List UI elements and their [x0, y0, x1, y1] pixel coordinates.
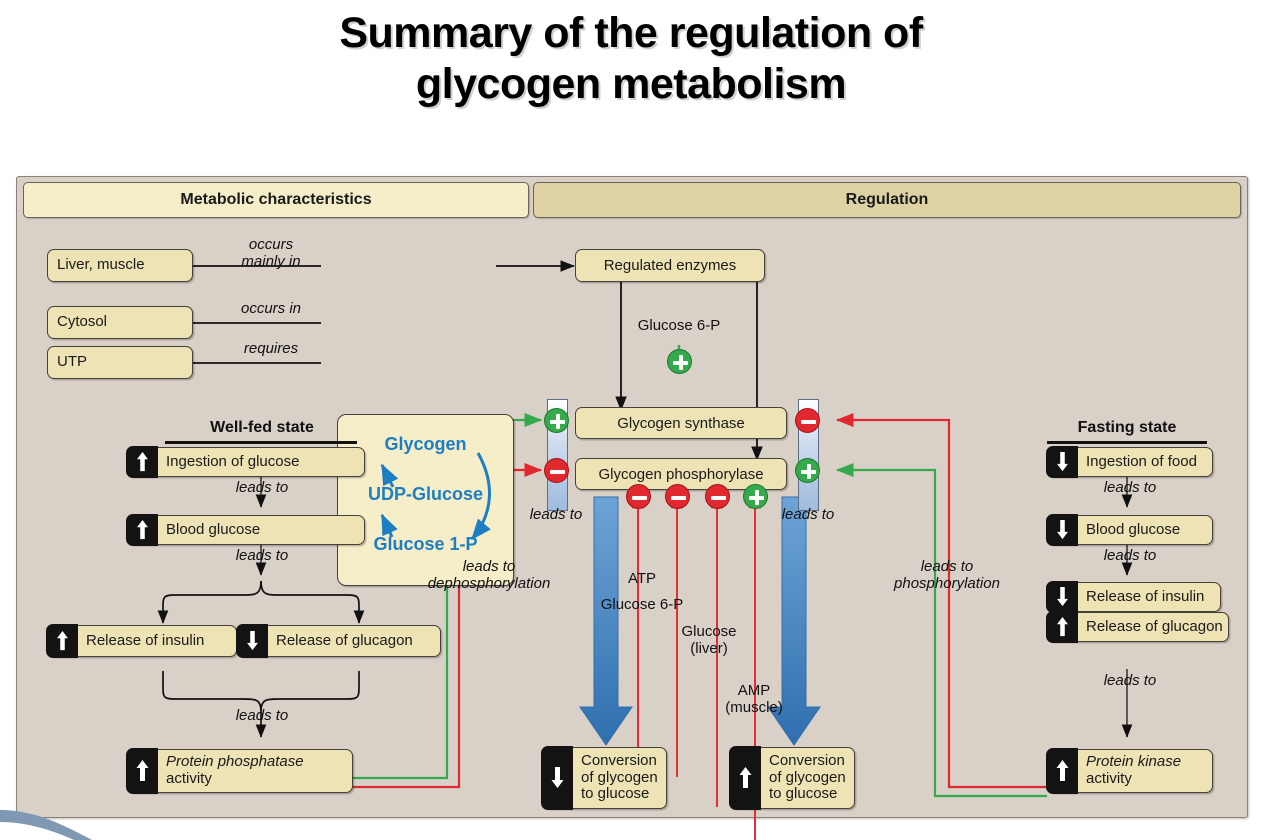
arrow-up-icon [136, 520, 149, 540]
down-arrow-chip [1046, 581, 1078, 612]
header-regulation: Regulation [533, 182, 1241, 218]
metabolic-target-label: Liver, muscle [48, 257, 145, 274]
arrow-up-icon [739, 767, 752, 789]
metabolic-target-label: Cytosol [48, 314, 107, 331]
effector-label-glucose-6p: Glucose 6-P [567, 596, 717, 613]
effector-label-glucose-liver: Glucose (liver) [644, 623, 774, 657]
up-arrow-chip [729, 746, 761, 809]
arrow-down-icon [1056, 520, 1069, 540]
effector-label-amp-muscle: AMP (muscle) [689, 682, 819, 716]
relation-label-occurs-in: occurs in [213, 301, 329, 318]
relation-label-requires: requires [213, 341, 329, 358]
up-arrow-chip [126, 446, 158, 477]
metabolic-target-label: UTP [48, 354, 87, 371]
metabolic-target-liver-muscle[interactable]: Liver, muscle [47, 249, 193, 282]
wellfed-hormone-release-of-insulin[interactable]: Release of insulin [47, 625, 237, 657]
metabolic-target-utp[interactable]: UTP [47, 346, 193, 379]
page-title-line-2: glycogen metabolism [0, 59, 1262, 110]
effector-badge-glucose-liver [705, 484, 730, 509]
outcome-box-decreased-conversion[interactable]: Conversion of glycogen to glucose [542, 747, 667, 809]
fasting-connector-3: leads to [1075, 673, 1185, 690]
metabolic-target-cytosol[interactable]: Cytosol [47, 306, 193, 339]
fasting-hormone-release-of-insulin[interactable]: Release of insulin [1047, 582, 1221, 612]
regulated-enzymes-label: Regulated enzymes [604, 257, 737, 274]
enzyme-label: Glycogen phosphorylase [598, 466, 763, 483]
route-label-phosphorylation: leads to phosphorylation [857, 559, 1037, 593]
arrow-down-icon [551, 767, 564, 789]
regulated-enzymes-box[interactable]: Regulated enzymes [575, 249, 765, 282]
well-fed-rule [165, 441, 357, 444]
effector-badge-glucose-6p [665, 484, 690, 509]
down-arrow-chip [236, 624, 268, 657]
up-arrow-chip [126, 514, 158, 545]
fasting-step-ingestion-of-food[interactable]: Ingestion of food [1047, 447, 1213, 477]
header-regulation-label: Regulation [846, 191, 929, 209]
left-bar-inhibitor-badge [544, 458, 569, 483]
enzyme-box-glycogen-synthase[interactable]: Glycogen synthase [575, 407, 787, 439]
fasting-step-blood-glucose[interactable]: Blood glucose [1047, 515, 1213, 545]
wellfed-connector-2: leads to [207, 548, 317, 565]
arrow-up-icon [136, 760, 149, 782]
arrow-down-icon [246, 631, 259, 651]
wellfed-connector-3: leads to [207, 708, 317, 725]
arrow-up-icon [136, 452, 149, 472]
up-arrow-chip [1046, 611, 1078, 642]
arrow-up-icon [1056, 617, 1069, 637]
column-heading-fasting: Fasting state [1037, 419, 1217, 437]
fasting-hormone-release-of-glucagon[interactable]: Release of glucagon [1047, 612, 1229, 642]
down-arrow-chip [1046, 446, 1078, 477]
right-bar-activator-badge [795, 458, 820, 483]
arrow-up-icon [56, 631, 69, 651]
left-bar-activator-badge [544, 408, 569, 433]
wellfed-result-protein-phosphatase[interactable]: Protein phosphatase activity [127, 749, 353, 793]
effector-badge-atp [626, 484, 651, 509]
fasting-connector-2: leads to [1075, 548, 1185, 565]
down-arrow-chip [541, 746, 573, 809]
fasting-result-protein-kinase[interactable]: Protein kinase activity [1047, 749, 1213, 793]
page-title: Summary of the regulation of glycogen me… [0, 8, 1262, 109]
route-label-dephosphorylation: leads to dephosphorylation [399, 559, 579, 593]
arrow-up-icon [1056, 760, 1069, 782]
effector-badge-amp-muscle [743, 484, 768, 509]
up-arrow-chip [46, 624, 78, 657]
page-title-line-1: Summary of the regulation of [0, 8, 1262, 59]
left-bar-caption: leads to [513, 507, 599, 524]
right-bar-inhibitor-badge [795, 408, 820, 433]
wellfed-connector-1: leads to [207, 480, 317, 497]
cycle-node-udp-glucose: UDP-Glucose [338, 484, 513, 505]
allosteric-glucose-6p-label: Glucose 6-P [617, 317, 741, 334]
wellfed-hormone-release-of-glucagon[interactable]: Release of glucagon [237, 625, 441, 657]
down-arrow-chip [1046, 514, 1078, 545]
header-metabolic-characteristics: Metabolic characteristics [23, 182, 529, 218]
right-bar-caption: leads to [765, 507, 851, 524]
arrow-down-icon [1056, 587, 1069, 607]
wellfed-step-ingestion-of-glucose[interactable]: Ingestion of glucose [127, 447, 365, 477]
column-heading-well-fed: Well-fed state [157, 419, 367, 437]
activator-badge-glucose-6p [667, 349, 692, 374]
header-metabolic-label: Metabolic characteristics [180, 191, 371, 209]
arrow-down-icon [1056, 452, 1069, 472]
up-arrow-chip [1046, 748, 1078, 793]
enzyme-label: Glycogen synthase [617, 415, 745, 432]
effector-label-atp: ATP [587, 570, 697, 587]
up-arrow-chip [126, 748, 158, 793]
diagram-panel: Metabolic characteristics Regulation [16, 176, 1248, 818]
wellfed-step-blood-glucose[interactable]: Blood glucose [127, 515, 365, 545]
fasting-rule [1047, 441, 1207, 444]
outcome-box-increased-conversion[interactable]: Conversion of glycogen to glucose [730, 747, 855, 809]
relation-label-occurs-mainly-in: occurs mainly in [213, 237, 329, 271]
fasting-connector-1: leads to [1075, 480, 1185, 497]
